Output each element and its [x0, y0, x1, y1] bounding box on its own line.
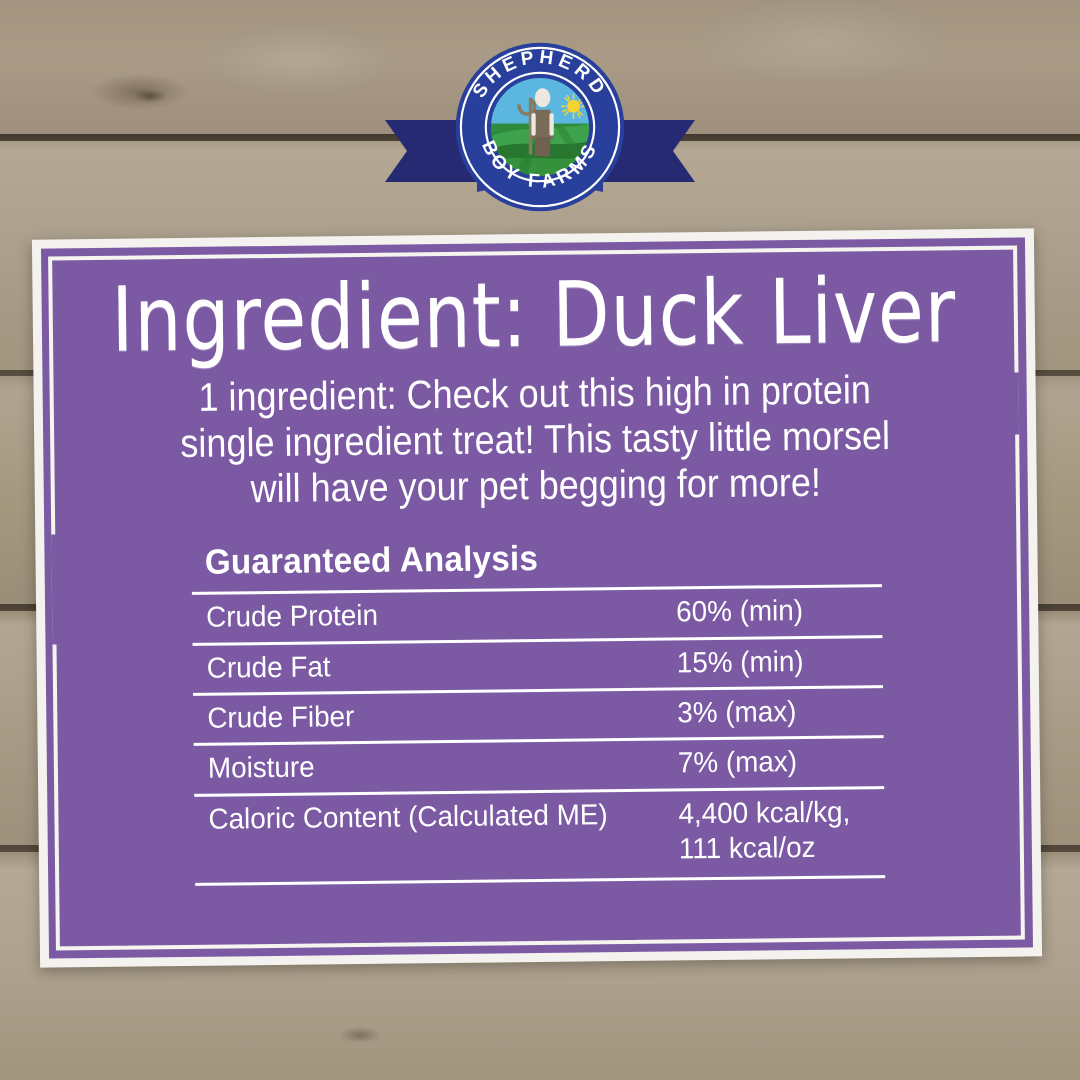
table-row: Crude Protein 60% (min)	[192, 584, 883, 642]
guaranteed-analysis-table: Guaranteed Analysis Crude Protein 60% (m…	[191, 535, 885, 885]
analysis-label: Crude Fiber	[207, 697, 659, 737]
analysis-value: 3% (max)	[677, 694, 875, 732]
table-row: Crude Fiber 3% (max)	[193, 685, 884, 743]
analysis-label: Crude Protein	[206, 596, 658, 636]
brand-logo: SHEPHERD BOY FARMS	[0, 32, 1080, 222]
analysis-value: 4,400 kcal/kg, 111 kcal/oz	[678, 795, 877, 868]
product-card: Ingredient: Duck Liver 1 ingredient: Che…	[32, 228, 1042, 967]
analysis-label: Crude Fat	[207, 646, 659, 686]
analysis-heading: Guaranteed Analysis	[191, 536, 847, 592]
logo-seal-icon: SHEPHERD BOY FARMS	[454, 41, 626, 213]
product-description: 1 ingredient: Check out this high in pro…	[121, 368, 949, 514]
analysis-value: 60% (min)	[676, 593, 874, 631]
analysis-value: 7% (max)	[678, 744, 876, 782]
analysis-label: Caloric Content (Calculated ME)	[208, 797, 660, 837]
page-title: Ingredient: Duck Liver	[106, 267, 961, 364]
table-row: Moisture 7% (max)	[194, 735, 885, 793]
table-row: Caloric Content (Calculated ME) 4,400 kc…	[194, 786, 885, 886]
analysis-value: 15% (min)	[677, 644, 875, 682]
analysis-label: Moisture	[208, 747, 660, 787]
table-row: Crude Fat 15% (min)	[192, 635, 883, 693]
